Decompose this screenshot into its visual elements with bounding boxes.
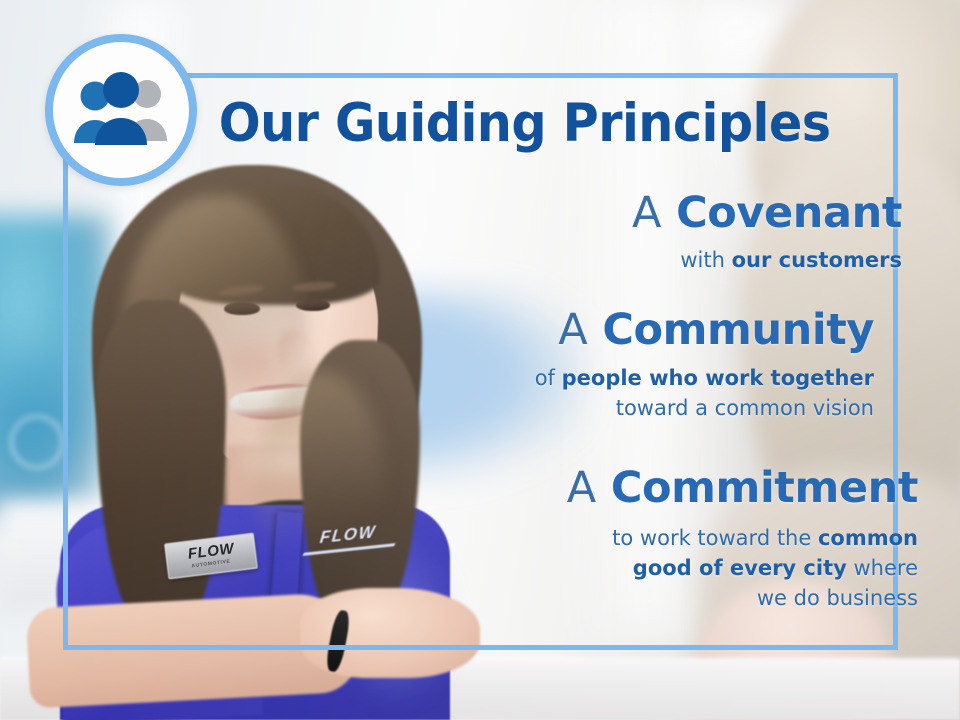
principle-subline: of people who work together (0, 364, 874, 393)
principle-subline: with our customers (0, 246, 902, 275)
subline-part: we do business (757, 586, 918, 610)
principle-article: A (632, 188, 662, 238)
subline-part: with (680, 248, 731, 272)
subline-part-emphasis: common (818, 526, 918, 550)
principle-block-covenant: A Covenant with our customers (0, 188, 902, 275)
subline-part: where (847, 556, 918, 580)
principle-subline: we do business (0, 584, 918, 613)
poster-canvas: FLOW FLOW AUTOMOTIVE Ou (0, 0, 960, 720)
principle-heading: A Covenant (0, 188, 902, 238)
subline-part: of (535, 366, 562, 390)
subline-part-emphasis: our customers (732, 248, 902, 272)
principle-block-commitment: A Commitment to work toward the common g… (0, 463, 918, 613)
poster-copy: Our Guiding Principles A Covenant with o… (0, 0, 960, 720)
principle-article: A (558, 305, 588, 355)
principle-heading: A Community (0, 305, 874, 355)
principle-keyword: Community (602, 305, 874, 355)
principle-keyword: Covenant (676, 188, 902, 238)
principle-heading: A Commitment (0, 463, 918, 513)
blurred-vehicle-emblem (10, 415, 64, 469)
principle-block-community: A Community of people who work together … (0, 305, 874, 423)
subline-part-emphasis: good of every city (633, 556, 847, 580)
principle-article: A (567, 463, 597, 513)
principle-subline: toward a common vision (0, 394, 874, 423)
subline-part-emphasis: people who work together (562, 366, 874, 390)
principle-subline: good of every city where (0, 554, 918, 583)
principle-subline: to work toward the common (0, 524, 918, 553)
page-title: Our Guiding Principles (34, 94, 927, 154)
subline-part: to work toward the (612, 526, 818, 550)
subline-part: toward a common vision (616, 396, 874, 420)
principle-keyword: Commitment (611, 463, 918, 513)
